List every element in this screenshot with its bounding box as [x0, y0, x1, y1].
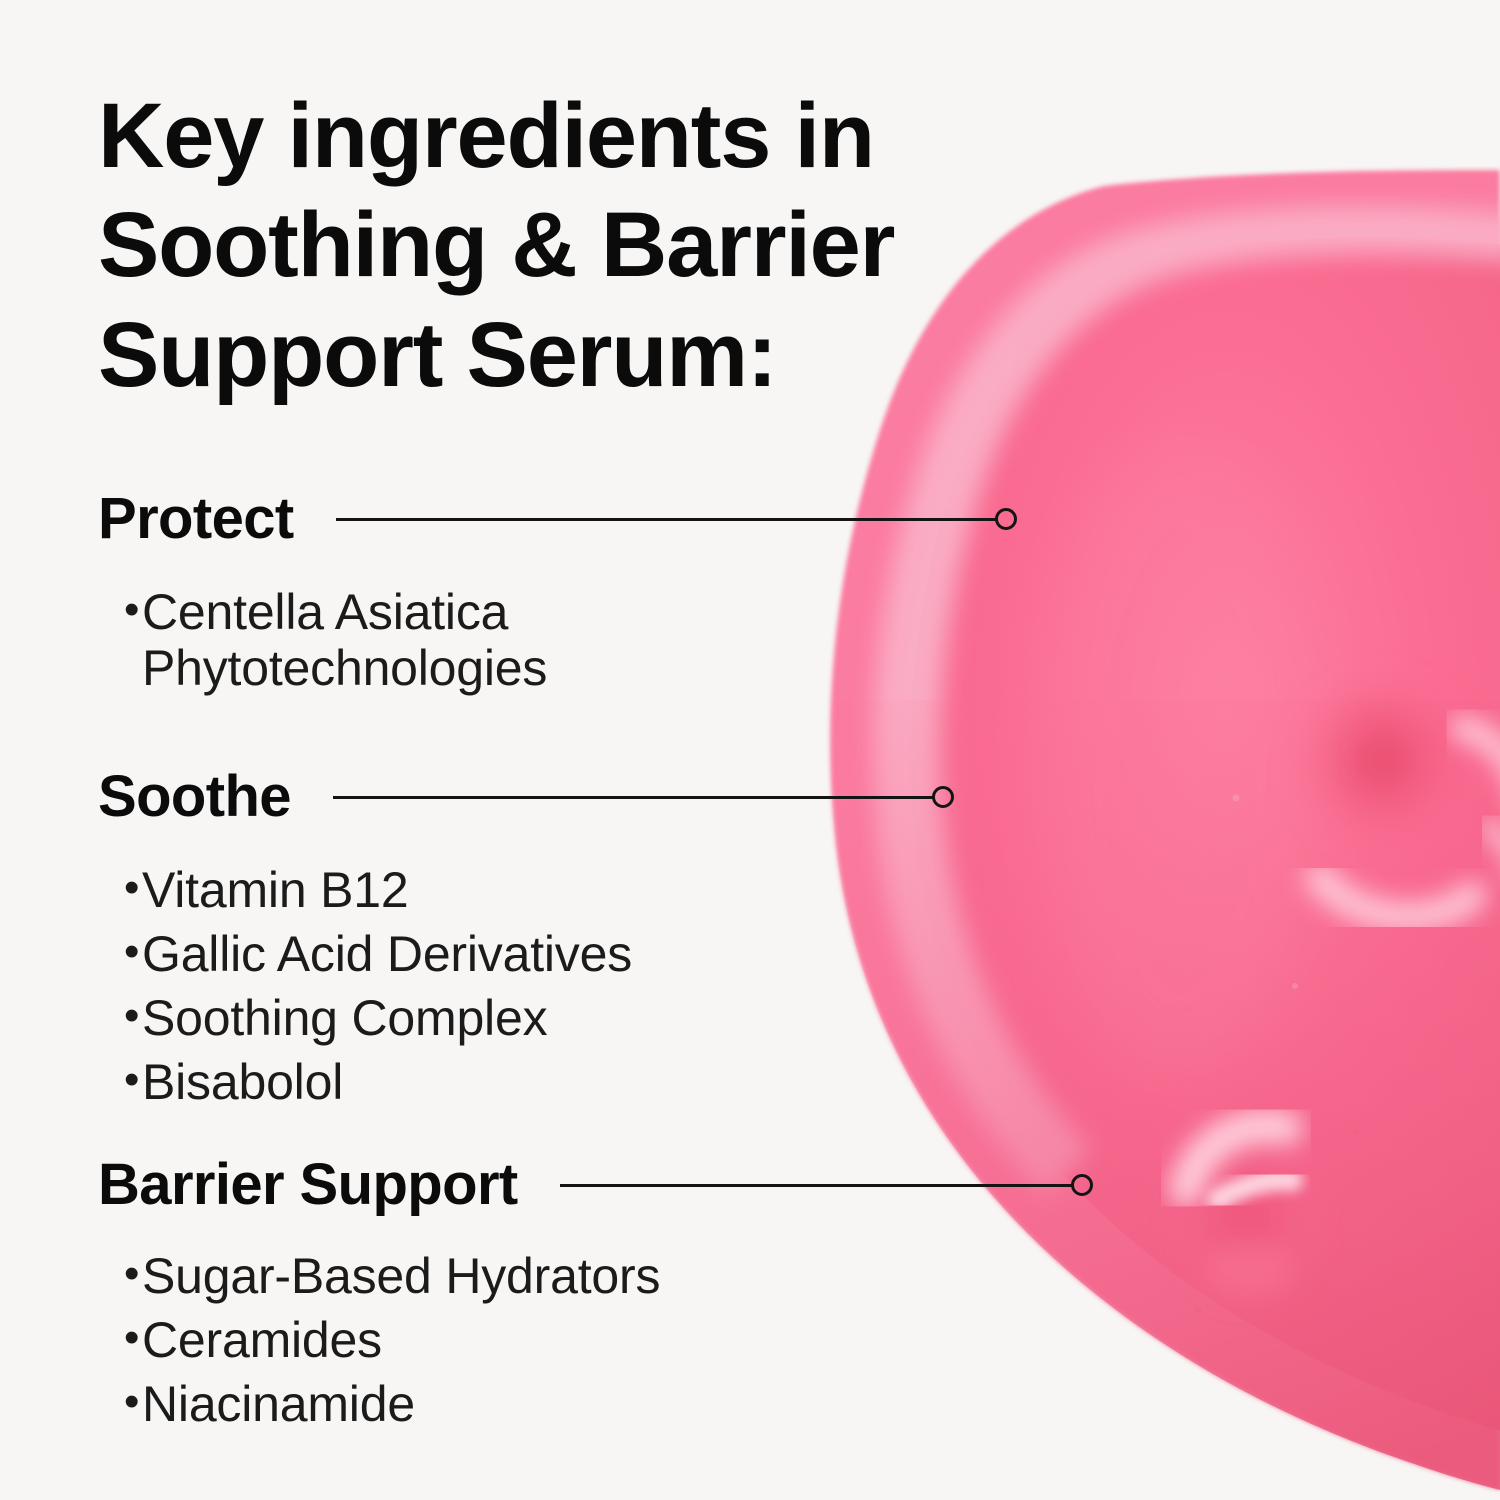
- list-item-label: Bisabolol: [142, 1054, 782, 1110]
- bullet-dot-icon: •: [98, 1312, 142, 1365]
- section-barrier-support: Barrier Support • Sugar-Based Hydrators …: [98, 1150, 1198, 1440]
- list-item: • Sugar-Based Hydrators: [98, 1248, 1198, 1304]
- list-item-label: Vitamin B12: [142, 862, 782, 918]
- section-barrier-header: Barrier Support: [98, 1150, 1198, 1220]
- infographic-canvas: Key ingredients in Soothing & Barrier Su…: [0, 0, 1500, 1500]
- bullet-dot-icon: •: [98, 1054, 142, 1107]
- barrier-leader-dot-icon: [1071, 1174, 1093, 1196]
- list-item-label: Centella Asiatica Phytotechnologies: [142, 584, 782, 696]
- list-item-label: Gallic Acid Derivatives: [142, 926, 782, 982]
- soothe-bullet-list: • Vitamin B12 • Gallic Acid Derivatives …: [98, 862, 1198, 1110]
- bullet-dot-icon: •: [98, 1376, 142, 1429]
- protect-leader-dot-icon: [995, 508, 1017, 530]
- bullet-dot-icon: •: [98, 862, 142, 915]
- list-item-label: Sugar-Based Hydrators: [142, 1248, 782, 1304]
- soothe-leader-dot-icon: [932, 786, 954, 808]
- barrier-bullet-list: • Sugar-Based Hydrators • Ceramides • Ni…: [98, 1248, 1198, 1432]
- list-item: • Soothing Complex: [98, 990, 1198, 1046]
- section-barrier-title: Barrier Support: [98, 1156, 518, 1214]
- protect-leader: [336, 506, 1017, 532]
- barrier-leader-line: [560, 1184, 1072, 1187]
- list-item-label: Soothing Complex: [142, 990, 782, 1046]
- bullet-dot-icon: •: [98, 1248, 142, 1301]
- page-title: Key ingredients in Soothing & Barrier Su…: [98, 82, 978, 410]
- barrier-leader: [560, 1172, 1093, 1198]
- list-item: • Vitamin B12: [98, 862, 1198, 918]
- section-protect: Protect • Centella Asiatica Phytotechnol…: [98, 484, 1198, 704]
- list-item: • Niacinamide: [98, 1376, 1198, 1432]
- protect-bullet-list: • Centella Asiatica Phytotechnologies: [98, 584, 1198, 696]
- bullet-dot-icon: •: [98, 584, 142, 637]
- list-item: • Centella Asiatica Phytotechnologies: [98, 584, 1198, 696]
- list-item: • Gallic Acid Derivatives: [98, 926, 1198, 982]
- list-item-label: Niacinamide: [142, 1376, 782, 1432]
- section-protect-header: Protect: [98, 484, 1198, 554]
- section-soothe-title: Soothe: [98, 768, 291, 826]
- bullet-dot-icon: •: [98, 990, 142, 1043]
- bullet-dot-icon: •: [98, 926, 142, 979]
- protect-leader-line: [336, 518, 996, 521]
- soothe-leader: [333, 784, 954, 810]
- list-item-label: Ceramides: [142, 1312, 782, 1368]
- section-protect-title: Protect: [98, 490, 294, 548]
- section-soothe: Soothe • Vitamin B12 • Gallic Acid Deriv…: [98, 762, 1198, 1118]
- soothe-leader-line: [333, 796, 933, 799]
- list-item: • Ceramides: [98, 1312, 1198, 1368]
- section-soothe-header: Soothe: [98, 762, 1198, 832]
- list-item: • Bisabolol: [98, 1054, 1198, 1110]
